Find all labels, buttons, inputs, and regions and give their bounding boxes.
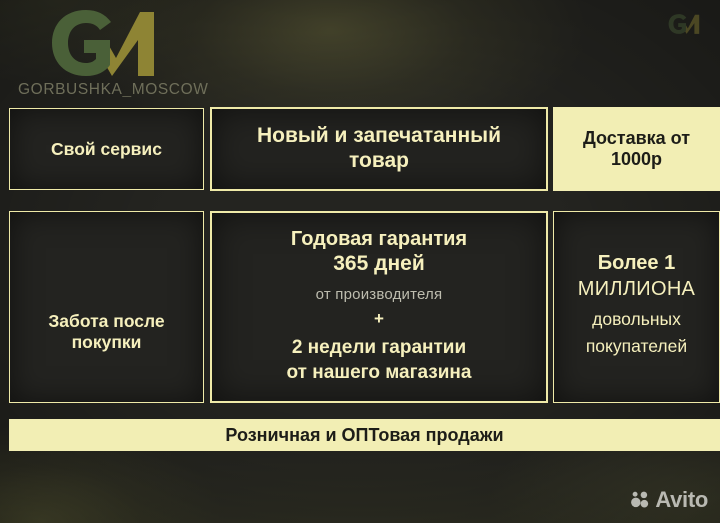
card-service: Свой сервис [9,108,204,190]
card-warranty-plus: + [374,309,384,329]
card-care: Забота после покупки [9,211,204,403]
promo-image: GORBUSHKA_MOSCOW Свой сервис Новый и зап… [0,0,720,523]
avito-dots-icon [630,490,650,510]
card-warranty-line5: от нашего магазина [287,362,472,384]
card-care-line1: Забота после [48,311,164,332]
card-new-sealed-line1: Новый и запечатанный [257,124,501,149]
brand-wordmark: GORBUSHKA_MOSCOW [18,81,208,99]
sales-banner-text: Розничная и ОПТовая продажи [225,425,503,446]
card-warranty-line1: Годовая гарантия [291,228,467,252]
card-buyers-line2: МИЛЛИОНА [578,278,695,302]
brand-logo: GORBUSHKA_MOSCOW [18,8,208,100]
card-buyers-line4: покупателей [586,336,687,357]
sales-banner: Розничная и ОПТовая продажи [9,419,720,451]
gm-monogram-icon [50,10,170,76]
card-delivery: Доставка от 1000р [553,107,720,191]
card-new-sealed: Новый и запечатанный товар [210,107,548,191]
card-delivery-line1: Доставка от [583,128,690,149]
card-warranty-line3: от производителя [316,286,443,304]
card-care-text: Забота после покупки [48,311,164,352]
brand-name-right: MOSCOW [132,81,209,98]
card-care-line2: покупки [48,332,164,353]
card-new-sealed-text: Новый и запечатанный товар [257,124,501,174]
brand-separator: _ [122,81,131,98]
card-delivery-line2: 1000р [583,149,690,170]
avito-watermark: Avito [630,489,708,511]
card-warranty-line4: 2 недели гарантии [292,337,466,359]
gm-monogram-watermark-icon [668,13,704,35]
card-buyers: Более 1 МИЛЛИОНА довольных покупателей [553,211,720,403]
card-warranty: Годовая гарантия 365 дней от производите… [210,211,548,403]
card-buyers-line3: довольных [592,309,681,330]
brand-name-left: GORBUSHKA [18,81,122,98]
card-buyers-line1: Более 1 [598,252,675,276]
card-delivery-text: Доставка от 1000р [583,128,690,170]
avito-wordmark: Avito [655,489,708,511]
card-service-text: Свой сервис [51,139,162,160]
card-new-sealed-line2: товар [257,149,501,174]
card-warranty-line2: 365 дней [333,252,424,277]
